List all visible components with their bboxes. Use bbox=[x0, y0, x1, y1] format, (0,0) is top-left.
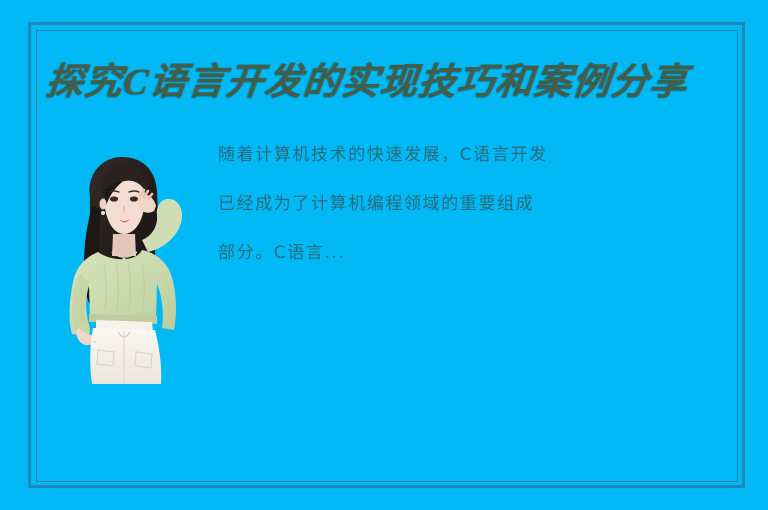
poster-title: 探究C语言开发的实现技巧和案例分享 bbox=[44, 60, 729, 106]
poster-canvas: 探究C语言开发的实现技巧和案例分享 随着计算机技术的快速发展，C语言开发 已经成… bbox=[0, 0, 768, 510]
excerpt-line-3: 部分。C语言... bbox=[218, 229, 726, 278]
portrait-photo bbox=[56, 152, 196, 384]
excerpt-line-1: 随着计算机技术的快速发展，C语言开发 bbox=[218, 131, 726, 180]
excerpt-line-2: 已经成为了计算机编程领域的重要组成 bbox=[218, 180, 726, 229]
poster-excerpt: 随着计算机技术的快速发展，C语言开发 已经成为了计算机编程领域的重要组成 部分。… bbox=[218, 131, 726, 278]
